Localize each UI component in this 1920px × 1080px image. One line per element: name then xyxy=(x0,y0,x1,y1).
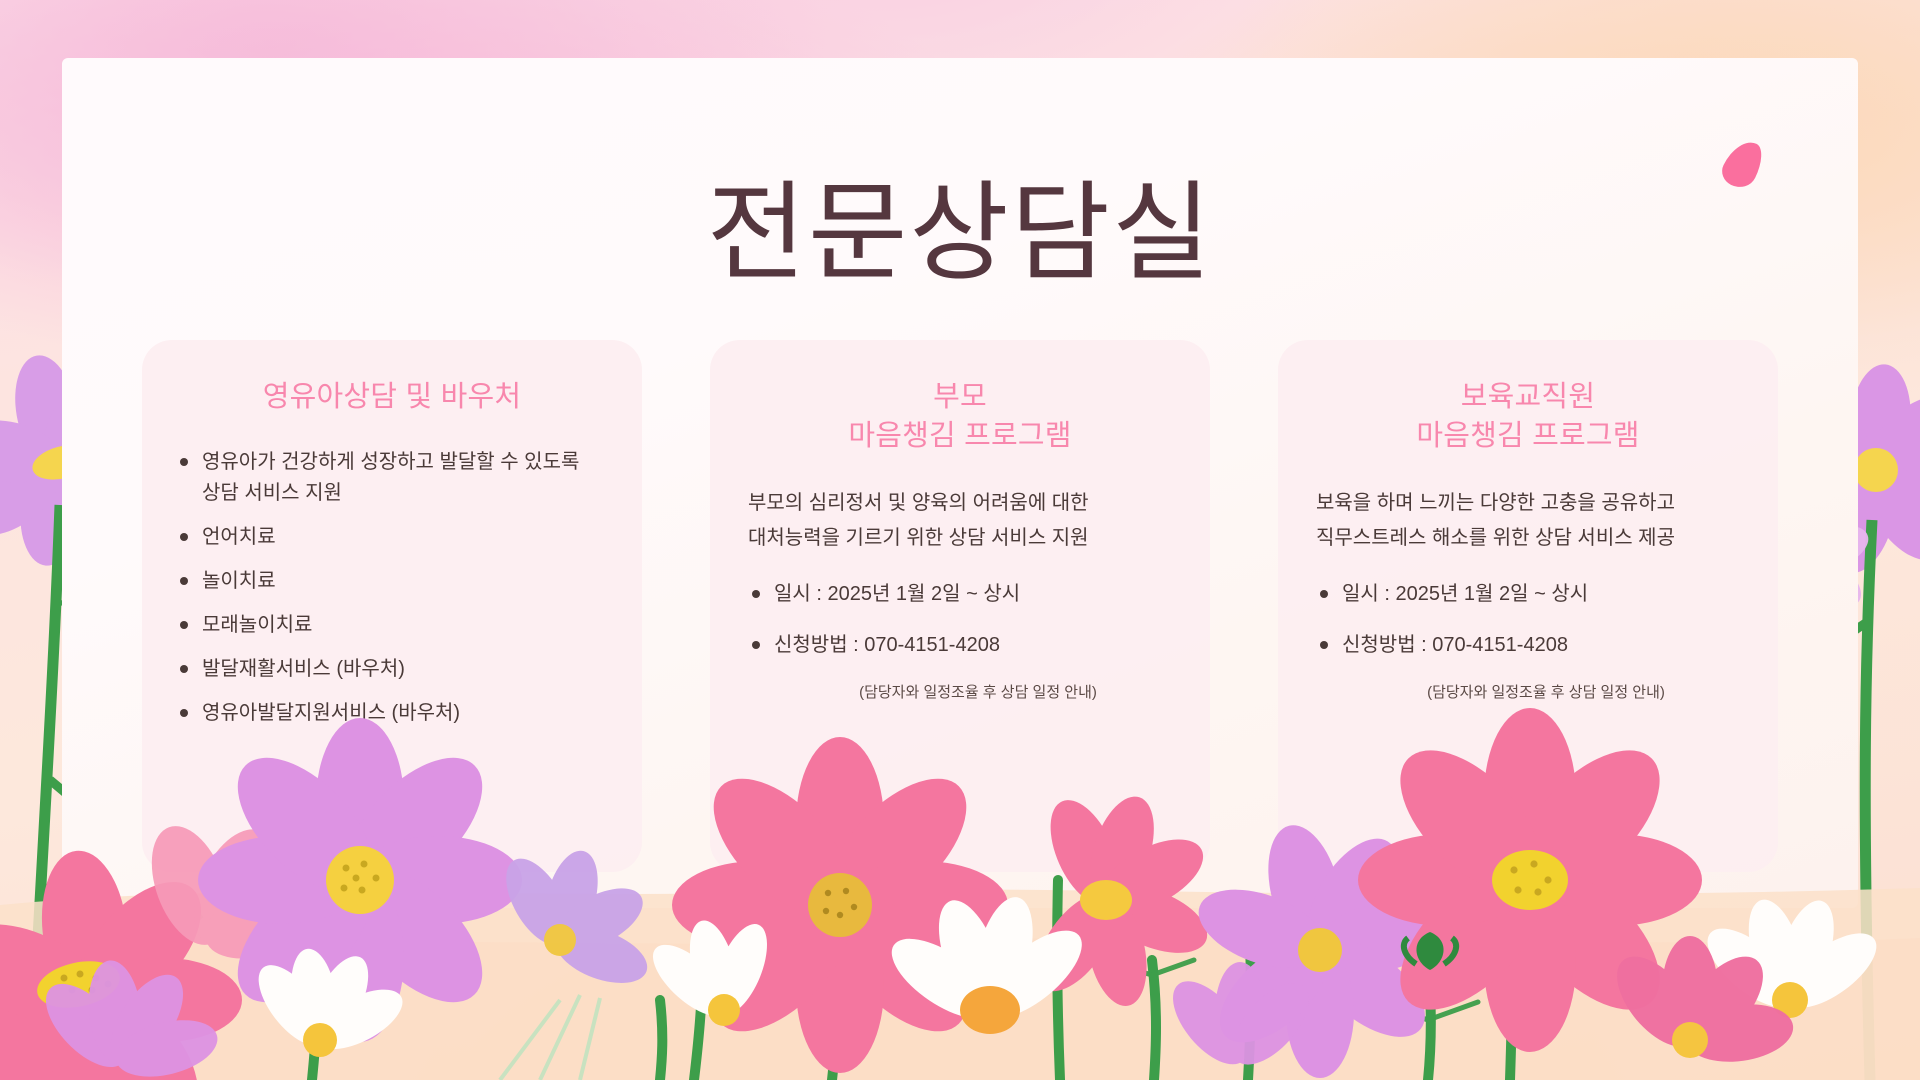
card-infant-counseling: 영유아상담 및 바우처 영유아가 건강하게 성장하고 발달할 수 있도록 상담 … xyxy=(142,340,642,872)
card-title: 부모 마음챙김 프로그램 xyxy=(740,378,1180,456)
card-parent-mindfulness: 부모 마음챙김 프로그램 부모의 심리정서 및 양육의 어려움에 대한 대처능력… xyxy=(710,340,1210,872)
card-intro-text: 부모의 심리정서 및 양육의 어려움에 대한 대처능력을 기르기 위한 상담 서… xyxy=(748,486,1172,557)
card-title-line1: 보육교직원 xyxy=(1461,381,1595,413)
card-title: 보육교직원 마음챙김 프로그램 xyxy=(1308,378,1748,456)
card-title-line2: 마음챙김 프로그램 xyxy=(1416,420,1639,452)
list-item: 영유아가 건강하게 성장하고 발달할 수 있도록 상담 서비스 지원 xyxy=(172,447,612,509)
list-item: 언어치료 xyxy=(172,522,612,553)
list-item: 일시 : 2025년 1월 2일 ~ 상시 xyxy=(740,579,1180,610)
list-item: 일시 : 2025년 1월 2일 ~ 상시 xyxy=(1308,579,1748,610)
list-item: 신청방법 : 070-4151-4208 xyxy=(740,630,1180,661)
page-title: 전문상담실 xyxy=(62,176,1858,289)
card-title: 영유아상담 및 바우처 xyxy=(172,378,612,417)
list-item: 영유아발달지원서비스 (바우처) xyxy=(172,698,612,729)
card-bullet-list: 일시 : 2025년 1월 2일 ~ 상시 신청방법 : 070-4151-42… xyxy=(740,579,1180,661)
card-bullet-list: 일시 : 2025년 1월 2일 ~ 상시 신청방법 : 070-4151-42… xyxy=(1308,579,1748,661)
card-staff-mindfulness: 보육교직원 마음챙김 프로그램 보육을 하며 느끼는 다양한 고충을 공유하고 … xyxy=(1278,340,1778,872)
card-note: (담당자와 일정조율 후 상담 일정 안내) xyxy=(740,681,1180,702)
list-item: 신청방법 : 070-4151-4208 xyxy=(1308,630,1748,661)
list-item: 놀이치료 xyxy=(172,566,612,597)
list-item: 발달재활서비스 (바우처) xyxy=(172,654,612,685)
card-note: (담당자와 일정조율 후 상담 일정 안내) xyxy=(1308,681,1748,702)
card-bullet-list: 영유아가 건강하게 성장하고 발달할 수 있도록 상담 서비스 지원 언어치료 … xyxy=(172,447,612,729)
list-item: 모래놀이치료 xyxy=(172,610,612,641)
card-title-line2: 마음챙김 프로그램 xyxy=(848,420,1071,452)
stamp-panel: 전문상담실 영유아상담 및 바우처 영유아가 건강하게 성장하고 발달할 수 있… xyxy=(62,58,1858,908)
card-title-line1: 부모 xyxy=(933,381,987,413)
program-card-list: 영유아상담 및 바우처 영유아가 건강하게 성장하고 발달할 수 있도록 상담 … xyxy=(62,340,1858,872)
card-intro-text: 보육을 하며 느끼는 다양한 고충을 공유하고 직무스트레스 해소를 위한 상담… xyxy=(1316,486,1740,557)
poster-canvas: 전문상담실 영유아상담 및 바우처 영유아가 건강하게 성장하고 발달할 수 있… xyxy=(0,0,1920,1080)
